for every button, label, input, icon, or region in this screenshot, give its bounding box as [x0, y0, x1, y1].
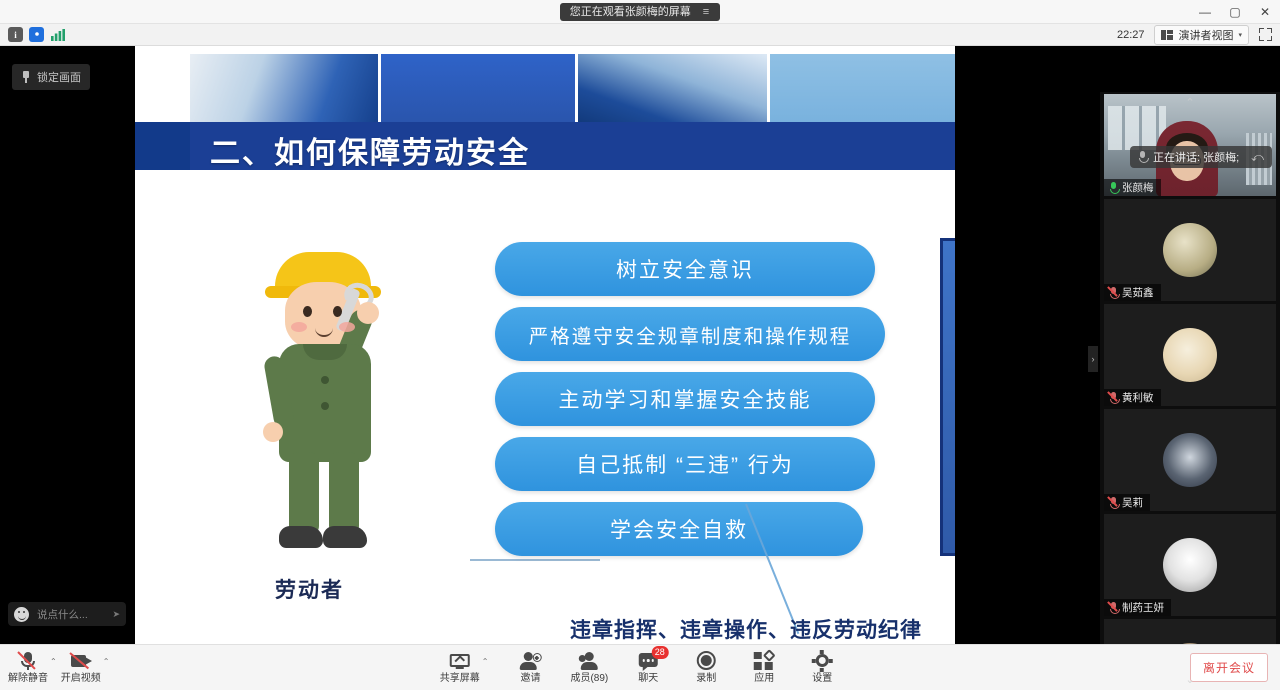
participant-nametag: 黄利敏: [1104, 389, 1161, 406]
lock-screen-label: 锁定画面: [37, 69, 81, 85]
participant-name: 吴茹鑫: [1122, 285, 1154, 300]
participant-tile[interactable]: 吴茹鑫: [1104, 199, 1276, 301]
reply-arrow-icon[interactable]: ⤺: [1251, 150, 1264, 165]
chat-bubble-icon: 28: [637, 651, 659, 671]
measure-pill: 严格遵守安全规章制度和操作规程: [495, 307, 885, 361]
audio-options-chevron-icon[interactable]: ⌃: [50, 657, 57, 666]
share-notice-menu-icon[interactable]: ≡: [703, 6, 710, 18]
avatar: [1163, 223, 1217, 277]
active-speaker-toast: 正在讲话: 张颜梅; ⤺: [1130, 146, 1272, 168]
apps-grid-icon: [753, 651, 775, 671]
mute-toggle-button[interactable]: 解除静音: [8, 651, 48, 684]
avatar: [1163, 328, 1217, 382]
speaker-view-icon: [1161, 30, 1173, 40]
slide-body: 劳动者 树立安全意识 严格遵守安全规章制度和操作规程 主动学习和掌握安全技能 自…: [185, 174, 955, 644]
measure-pill: 树立安全意识: [495, 242, 875, 296]
presentation-slide: 二、如何保障劳动安全: [135, 46, 955, 644]
worker-shoe-right: [323, 526, 367, 548]
measure-pill-list: 树立安全意识 严格遵守安全规章制度和操作规程 主动学习和掌握安全技能 自己抵制 …: [495, 242, 875, 567]
rail-collapse-handle[interactable]: ›: [1088, 346, 1098, 372]
meeting-stage: 锁定画面 二、如何保障劳动安全: [0, 46, 1280, 644]
settings-button[interactable]: 设置: [804, 651, 840, 684]
avatar: [1163, 433, 1217, 487]
worker-cheek-left: [291, 322, 307, 332]
participant-name: 吴莉: [1122, 495, 1143, 510]
emoji-icon[interactable]: [14, 607, 29, 622]
banner-image-hands: [190, 54, 378, 122]
share-screen-button[interactable]: 共享屏幕: [440, 651, 480, 684]
maximize-button[interactable]: ▢: [1220, 0, 1250, 24]
screen-share-notice[interactable]: 您正在观看张颜梅的屏幕 ≡: [560, 3, 720, 21]
quick-chat-placeholder[interactable]: 说点什么...: [37, 607, 88, 622]
participants-button[interactable]: 成员(89): [570, 651, 608, 684]
fullscreen-icon[interactable]: [1259, 28, 1272, 41]
chat-unread-badge: 28: [651, 646, 668, 659]
participant-rail[interactable]: ⌃ 张颜梅 吴茹鑫: [1100, 92, 1280, 690]
view-mode-selector[interactable]: 演讲者视图 ▾: [1154, 25, 1249, 45]
shield-icon[interactable]: [29, 27, 44, 42]
avatar: [1163, 538, 1217, 592]
shared-screen-area[interactable]: 二、如何保障劳动安全: [135, 46, 955, 644]
meeting-infobar: i 22:27 演讲者视图 ▾: [0, 24, 1280, 46]
worker-button-top: [321, 376, 329, 384]
banner-image-road: [578, 54, 768, 122]
minimize-button[interactable]: —: [1190, 0, 1220, 24]
active-speaker-label: 正在讲话: 张颜梅;: [1153, 149, 1239, 165]
share-options-chevron-icon[interactable]: ⌃: [482, 657, 489, 666]
microphone-muted-icon: [1109, 602, 1118, 614]
participant-tile[interactable]: 吴莉: [1104, 409, 1276, 511]
worker-leg-right: [329, 452, 359, 536]
slide-title: 二、如何保障劳动安全: [210, 128, 530, 172]
worker-button-bottom: [321, 402, 329, 410]
window-titlebar: 您正在观看张颜梅的屏幕 ≡ — ▢ ✕: [0, 0, 1280, 24]
worker-label: 劳动者: [275, 574, 344, 604]
microphone-muted-icon: [1109, 392, 1118, 404]
worker-leg-left: [289, 452, 319, 536]
quick-chat-input-bar[interactable]: 说点什么... ➤: [8, 602, 126, 626]
rail-scroll-up-icon[interactable]: ⌃: [1185, 96, 1194, 109]
share-notice-text: 您正在观看张颜梅的屏幕: [570, 6, 691, 18]
slide-banner-strip: [190, 54, 955, 122]
worker-shoe-left: [279, 526, 323, 548]
video-toggle-label: 开启视频: [61, 673, 101, 684]
banner-image-blue: [381, 54, 575, 122]
participant-name: 制药王妍: [1122, 600, 1164, 615]
view-mode-label: 演讲者视图: [1178, 27, 1233, 43]
chevron-down-icon[interactable]: ▾: [1238, 31, 1242, 39]
record-icon: [695, 651, 717, 671]
worker-hand-lower: [263, 422, 283, 442]
vertical-slogan-box: 保障人身安全 避免财产损失: [940, 238, 955, 556]
participant-tile[interactable]: 黄利敏: [1104, 304, 1276, 406]
camera-off-icon: [70, 651, 92, 671]
leave-meeting-button[interactable]: 离开会议: [1190, 653, 1268, 682]
apps-label: 应用: [754, 673, 774, 684]
network-bars-icon[interactable]: [50, 27, 65, 42]
microphone-icon: [1109, 182, 1118, 194]
measure-pill: 学会安全自救: [495, 502, 863, 556]
worker-eye-left: [303, 306, 312, 317]
record-button[interactable]: 录制: [688, 651, 724, 684]
measure-pill: 自己抵制 “三违” 行为: [495, 437, 875, 491]
worker-illustration: [245, 244, 435, 574]
rail-scroll-down-icon[interactable]: ⌄: [1185, 673, 1194, 686]
video-toggle-button[interactable]: 开启视频: [61, 651, 101, 684]
participants-icon: [578, 651, 600, 671]
slide-footnote: 违章指挥、违章操作、违反劳动纪律: [570, 614, 922, 644]
participants-label: 成员(89): [570, 673, 608, 684]
apps-button[interactable]: 应用: [746, 651, 782, 684]
worker-hand-upper: [357, 302, 379, 324]
worker-cheek-right: [339, 322, 355, 332]
chat-button[interactable]: 28 聊天: [630, 651, 666, 684]
send-icon[interactable]: ➤: [112, 609, 120, 620]
video-options-chevron-icon[interactable]: ⌃: [103, 657, 110, 666]
invite-person-icon: [519, 651, 541, 671]
settings-label: 设置: [812, 673, 832, 684]
participant-nametag: 制药王妍: [1104, 599, 1171, 616]
info-icon[interactable]: i: [8, 27, 23, 42]
window-controls: — ▢ ✕: [1190, 0, 1280, 24]
invite-button[interactable]: 邀请: [512, 651, 548, 684]
participant-nametag: 吴茹鑫: [1104, 284, 1161, 301]
gear-icon: [811, 651, 833, 671]
invite-label: 邀请: [520, 673, 540, 684]
toolbar-left-group: 解除静音 ⌃ 开启视频 ⌃: [0, 651, 111, 684]
meeting-clock: 22:27: [1117, 29, 1145, 41]
microphone-muted-icon: [17, 651, 39, 671]
meeting-toolbar: 解除静音 ⌃ 开启视频 ⌃ 共享屏幕 ⌃ 邀请: [0, 644, 1280, 690]
infobar-right-group: 22:27 演讲者视图 ▾: [1117, 25, 1280, 45]
participant-name: 黄利敏: [1122, 390, 1154, 405]
infobar-icon-group: i: [0, 27, 65, 42]
microphone-icon: [1138, 151, 1147, 163]
measure-pill: 主动学习和掌握安全技能: [495, 372, 875, 426]
toolbar-right-group: 离开会议: [1190, 653, 1280, 682]
vertical-slogan-text: 保障人身安全 避免财产损失: [953, 260, 955, 535]
banner-image-lightblue: [770, 54, 955, 122]
worker-eye-right: [333, 306, 342, 317]
share-screen-icon: [449, 651, 471, 671]
microphone-muted-icon: [1109, 497, 1118, 509]
record-label: 录制: [696, 673, 716, 684]
lock-screen-chip[interactable]: 锁定画面: [12, 64, 90, 90]
close-button[interactable]: ✕: [1250, 0, 1280, 24]
participant-nametag: 吴莉: [1104, 494, 1150, 511]
participant-nametag: 张颜梅: [1104, 179, 1161, 196]
participant-tile[interactable]: 制药王妍: [1104, 514, 1276, 616]
participant-name: 张颜梅: [1122, 180, 1154, 195]
toolbar-center-group: 共享屏幕 ⌃ 邀请 成员(89) 28 聊天: [440, 651, 841, 684]
chat-label: 聊天: [638, 673, 658, 684]
participant-tile[interactable]: 张颜梅: [1104, 94, 1276, 196]
mute-toggle-label: 解除静音: [8, 673, 48, 684]
pin-icon: [21, 71, 31, 83]
microphone-muted-icon: [1109, 287, 1118, 299]
share-screen-label: 共享屏幕: [440, 673, 480, 684]
